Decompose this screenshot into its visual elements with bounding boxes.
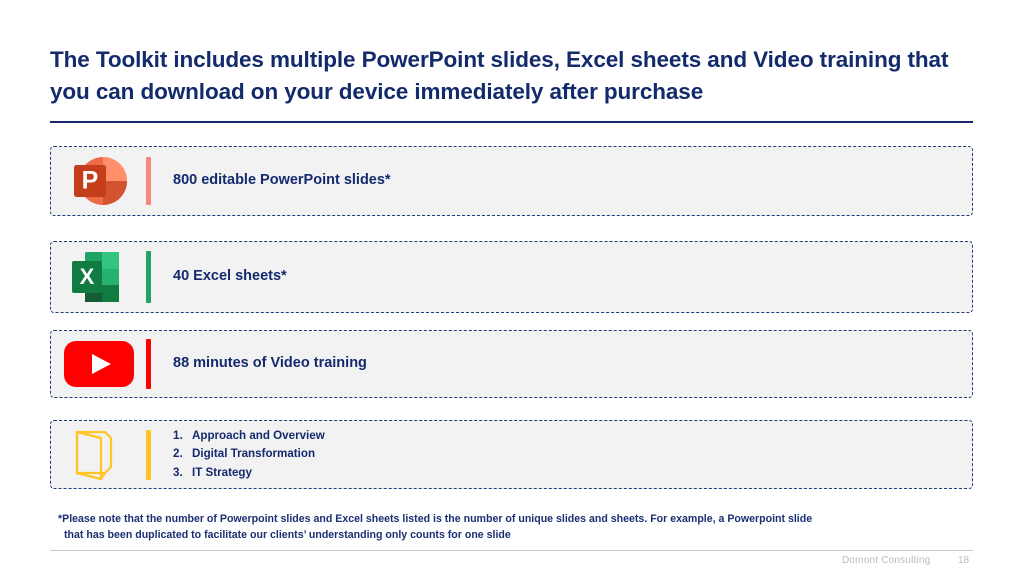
footer-divider <box>50 550 973 551</box>
svg-text:P: P <box>81 167 98 195</box>
card-label-powerpoint: 800 editable PowerPoint slides* <box>173 170 391 191</box>
footnote: *Please note that the number of Powerpoi… <box>58 511 978 543</box>
card-label-excel: 40 Excel sheets* <box>173 266 287 287</box>
card-accent-bar-excel <box>146 251 151 303</box>
page-title-line-1: The Toolkit includes multiple PowerPoint… <box>50 47 814 72</box>
list-item-label: IT Strategy <box>192 466 252 479</box>
list-item-label: Approach and Overview <box>192 429 325 442</box>
list-item: 1.Approach and Overview <box>173 427 325 446</box>
list-item: 3.IT Strategy <box>173 464 325 483</box>
svg-text:X: X <box>79 264 94 289</box>
page-title: The Toolkit includes multiple PowerPoint… <box>50 44 980 108</box>
youtube-icon-slot <box>51 341 146 387</box>
folder-icon-slot <box>51 427 146 483</box>
list-item-number: 2. <box>173 445 192 464</box>
card-excel[interactable]: X 40 Excel sheets* <box>50 241 973 313</box>
card-powerpoint[interactable]: P 800 editable PowerPoint slides* <box>50 146 973 216</box>
list-item: 2.Digital Transformation <box>173 445 325 464</box>
card-accent-bar-video <box>146 339 151 389</box>
list-item-number: 1. <box>173 427 192 446</box>
youtube-icon <box>64 341 134 387</box>
powerpoint-icon: P <box>70 152 128 210</box>
footnote-line-1: *Please note that the number of Powerpoi… <box>58 513 812 525</box>
list-item-label: Digital Transformation <box>192 447 315 460</box>
folder-icon <box>71 427 127 483</box>
excel-icon-slot: X <box>51 249 146 305</box>
list-item-number: 3. <box>173 464 192 483</box>
card-video[interactable]: 88 minutes of Video training <box>50 330 973 398</box>
footnote-line-2: that has been duplicated to facilitate o… <box>58 527 978 543</box>
powerpoint-icon-slot: P <box>51 152 146 210</box>
card-label-video: 88 minutes of Video training <box>173 353 367 374</box>
title-divider <box>50 121 973 123</box>
card-topics[interactable]: 1.Approach and Overview 2.Digital Transf… <box>50 420 973 489</box>
card-accent-bar-topics <box>146 430 151 480</box>
card-accent-bar-powerpoint <box>146 157 151 205</box>
footer-page-number: 18 <box>958 555 969 566</box>
footer-brand: Domont Consulting <box>842 555 930 566</box>
excel-icon: X <box>69 249 129 305</box>
topics-list: 1.Approach and Overview 2.Digital Transf… <box>173 427 325 483</box>
